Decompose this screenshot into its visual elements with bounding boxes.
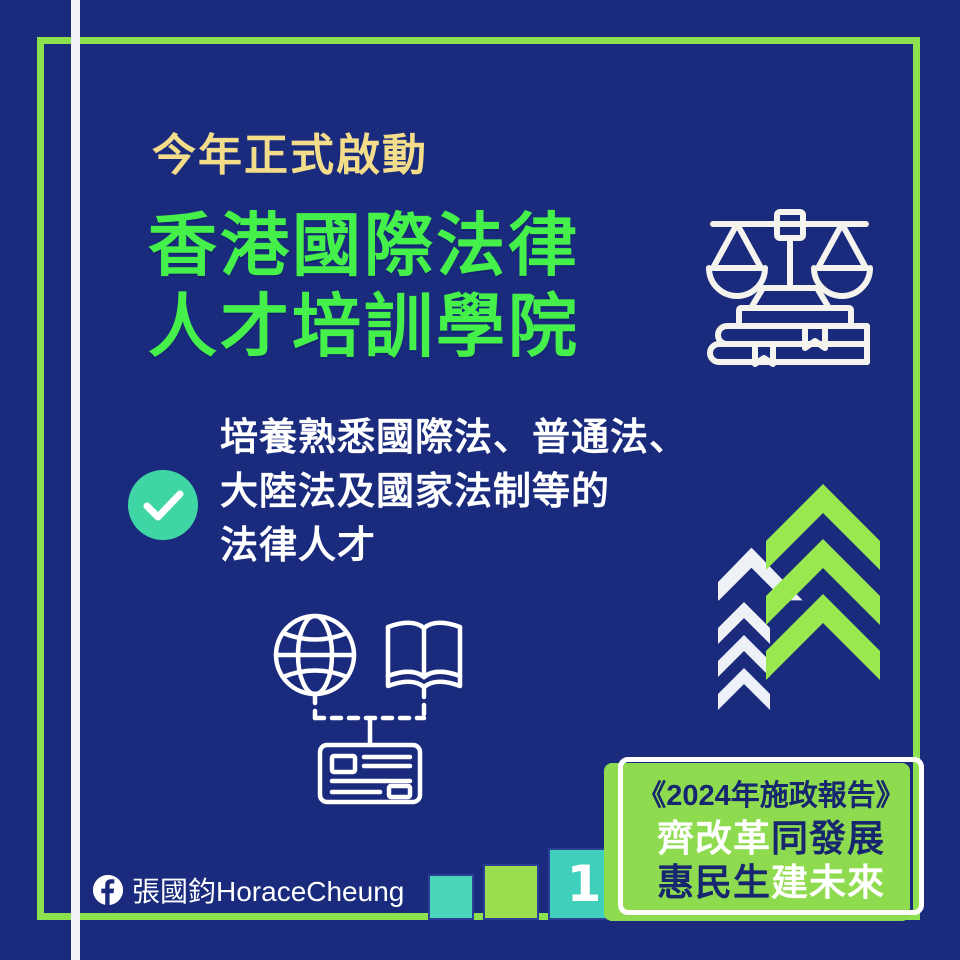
page-number: 1 (567, 859, 602, 909)
chevrons-green (766, 484, 880, 680)
bullet-text: 培養熟悉國際法、普通法、 大陸法及國家法制等的 法律人才 (220, 412, 688, 574)
globe-icon (276, 616, 354, 694)
facebook-handle[interactable]: 張國鈞HoraceCheung (93, 872, 404, 908)
facebook-icon (93, 875, 123, 905)
ascending-chevrons-icon (718, 468, 928, 728)
scales-of-justice-icon (697, 196, 882, 371)
slogan-1b: 同發展 (771, 818, 885, 859)
title-line-2: 人才培訓學院 (148, 286, 708, 367)
slogan-1a: 齊改革 (657, 818, 771, 859)
white-vertical-rule (71, 0, 80, 960)
certificate-card-icon (320, 745, 420, 802)
slogan-2a: 惠民生 (657, 862, 771, 903)
page-indicator: 1 (428, 845, 620, 920)
bullet-line-2: 大陸法及國家法制等的 (220, 466, 688, 520)
globe-book-card-diagram-icon (258, 600, 483, 825)
slogan-2b: 建未來 (771, 862, 885, 903)
badge-content: 《2024年施政報告》 齊改革同發展 惠民生建未來 (618, 763, 924, 921)
page-indicator-box-2[interactable] (483, 864, 539, 920)
bullet-line-1: 培養熟悉國際法、普通法、 (220, 412, 688, 466)
bullet-line-3: 法律人才 (220, 520, 688, 574)
poster-canvas: 今年正式啟動 香港國際法律 人才培訓學院 (0, 0, 960, 960)
page-indicator-box-1[interactable] (428, 874, 474, 920)
facebook-account-name: 張國鈞HoraceCheung (132, 870, 404, 910)
open-book-icon (388, 623, 460, 687)
badge-slogan-line-1: 齊改革同發展 (657, 817, 885, 861)
badge-heading: 《2024年施政報告》 (637, 780, 905, 813)
title-line-1: 香港國際法律 (148, 205, 708, 286)
policy-address-badge: 《2024年施政報告》 齊改革同發展 惠民生建未來 (604, 757, 924, 925)
kicker-text: 今年正式啟動 (152, 132, 428, 180)
page-title: 香港國際法律 人才培訓學院 (148, 205, 708, 368)
badge-slogan-line-2: 惠民生建未來 (657, 861, 885, 905)
check-icon (128, 470, 198, 540)
